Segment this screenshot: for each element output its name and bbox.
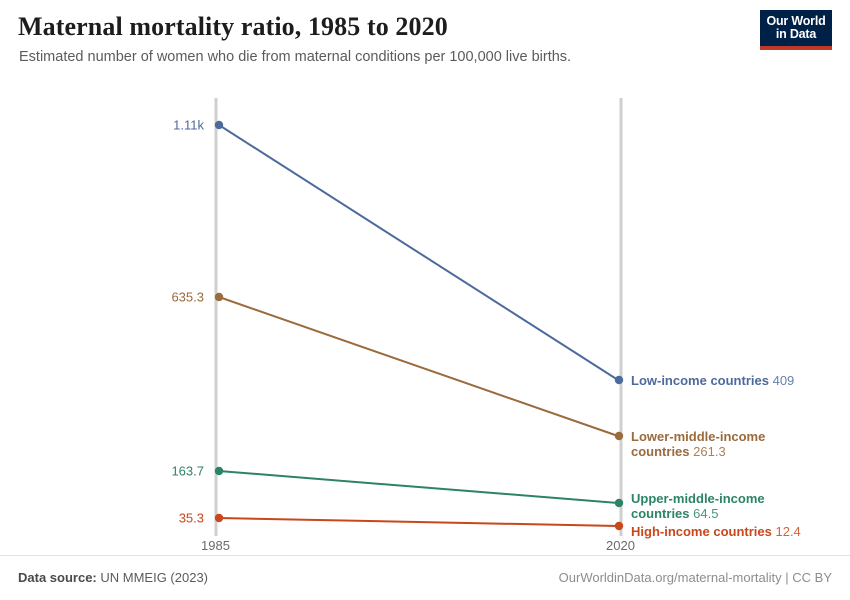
- our-world-in-data-logo[interactable]: Our World in Data: [760, 10, 832, 50]
- series-point-upper-middle-income-2020: [615, 499, 623, 507]
- x-axis-tick-1985: 1985: [201, 538, 230, 553]
- series-name-upper-middle-income-line2: countries: [631, 506, 690, 521]
- series-name-high-income: High-income countries: [631, 524, 772, 539]
- start-value-low-income: 1.11k: [118, 118, 204, 133]
- x-axis-tick-2020: 2020: [606, 538, 635, 553]
- series-point-upper-middle-income-1985: [215, 467, 223, 475]
- start-value-lower-middle-income: 635.3: [118, 290, 204, 305]
- series-label-low-income[interactable]: Low-income countries 409: [631, 373, 794, 388]
- series-point-high-income-2020: [615, 522, 623, 530]
- start-value-high-income: 35.3: [118, 511, 204, 526]
- series-name-lower-middle-income-line2: countries: [631, 444, 690, 459]
- data-source: Data source: UN MMEIG (2023): [18, 570, 208, 585]
- series-point-high-income-1985: [215, 514, 223, 522]
- series-value-low-income: 409: [773, 373, 795, 388]
- series-line-high-income: [219, 518, 618, 526]
- start-value-upper-middle-income: 163.7: [118, 464, 204, 479]
- page-title: Maternal mortality ratio, 1985 to 2020: [18, 12, 448, 42]
- chart-subtitle: Estimated number of women who die from m…: [19, 49, 571, 65]
- data-source-value: UN MMEIG (2023): [100, 570, 208, 585]
- series-value-high-income: 12.4: [775, 524, 800, 539]
- series-name-lower-middle-income-line1: Lower-middle-income: [631, 429, 765, 444]
- series-value-lower-middle-income: 261.3: [693, 444, 726, 459]
- chart-svg: [0, 88, 850, 556]
- series-label-upper-middle-income[interactable]: Upper-middle-income countries 64.5: [631, 491, 765, 521]
- series-line-upper-middle-income: [219, 471, 618, 503]
- series-line-lower-middle-income: [219, 297, 618, 436]
- chart-plot-area: 1.11k 635.3 163.7 35.3 Low-income countr…: [0, 88, 850, 556]
- logo-line-2: in Data: [776, 28, 816, 41]
- chart-header: Maternal mortality ratio, 1985 to 2020 E…: [0, 0, 850, 88]
- series-point-lower-middle-income-1985: [215, 293, 223, 301]
- chart-footer: Data source: UN MMEIG (2023) OurWorldinD…: [0, 555, 850, 600]
- footer-attribution[interactable]: OurWorldinData.org/maternal-mortality | …: [559, 570, 832, 585]
- series-label-high-income[interactable]: High-income countries 12.4: [631, 524, 801, 539]
- series-point-low-income-1985: [215, 121, 223, 129]
- series-line-low-income: [219, 125, 618, 380]
- series-name-low-income: Low-income countries: [631, 373, 769, 388]
- series-label-lower-middle-income[interactable]: Lower-middle-income countries 261.3: [631, 429, 765, 459]
- series-value-upper-middle-income: 64.5: [693, 506, 718, 521]
- data-source-label: Data source:: [18, 570, 97, 585]
- series-point-low-income-2020: [615, 376, 623, 384]
- series-point-lower-middle-income-2020: [615, 432, 623, 440]
- series-name-upper-middle-income-line1: Upper-middle-income: [631, 491, 765, 506]
